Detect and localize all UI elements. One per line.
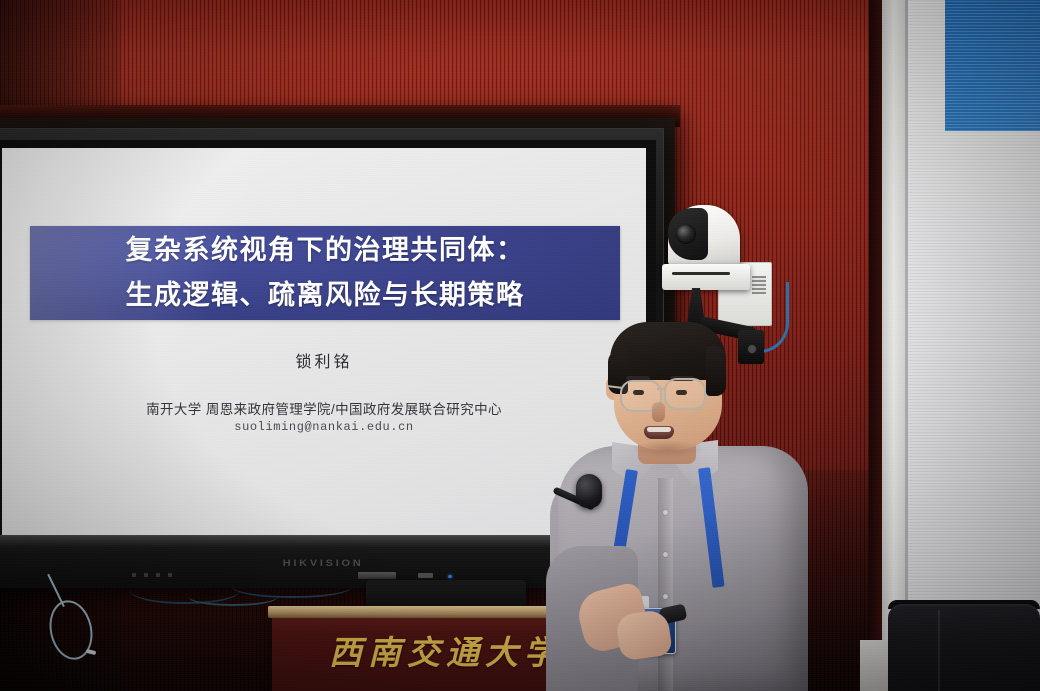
display-sensor-window-secondary — [418, 573, 433, 578]
projection-blue-block — [945, 0, 1040, 131]
display-ir-sensor-window — [358, 572, 396, 579]
display-power-led — [448, 575, 452, 578]
presenter-teeth — [647, 427, 671, 432]
presenter-hair-side-right — [706, 346, 726, 396]
camera-lens-icon — [676, 224, 696, 244]
chair-back — [888, 604, 1040, 691]
presentation-photo-scene: 复杂系统视角下的治理共同体： 生成逻辑、疏离风险与长期策略 锁利铭 南开大学 周… — [0, 0, 1040, 691]
slide-title-line-1: 复杂系统视角下的治理共同体： — [126, 228, 525, 273]
shirt-button — [663, 510, 668, 515]
slide-title-band: 复杂系统视角下的治理共同体： 生成逻辑、疏离风险与长期策略 — [30, 226, 620, 320]
presenter — [540, 320, 840, 691]
eyeglasses-lens-right — [664, 378, 706, 410]
slide-title-line-2: 生成逻辑、疏离风险与长期策略 — [126, 273, 525, 318]
presenter-chin-shadow — [632, 440, 704, 458]
eyeglasses-bridge — [657, 388, 666, 390]
shirt-button — [663, 594, 668, 599]
presenter-nose — [652, 402, 665, 422]
hanging-cable — [188, 586, 278, 606]
projection-screen-edge — [905, 0, 908, 691]
display-brand-label: HIKVISION — [283, 558, 364, 569]
shirt-button — [663, 552, 668, 557]
camera-base-trim — [672, 272, 730, 275]
camera-base — [662, 264, 750, 290]
chair-seam — [938, 610, 940, 691]
microphone-head — [576, 474, 602, 508]
